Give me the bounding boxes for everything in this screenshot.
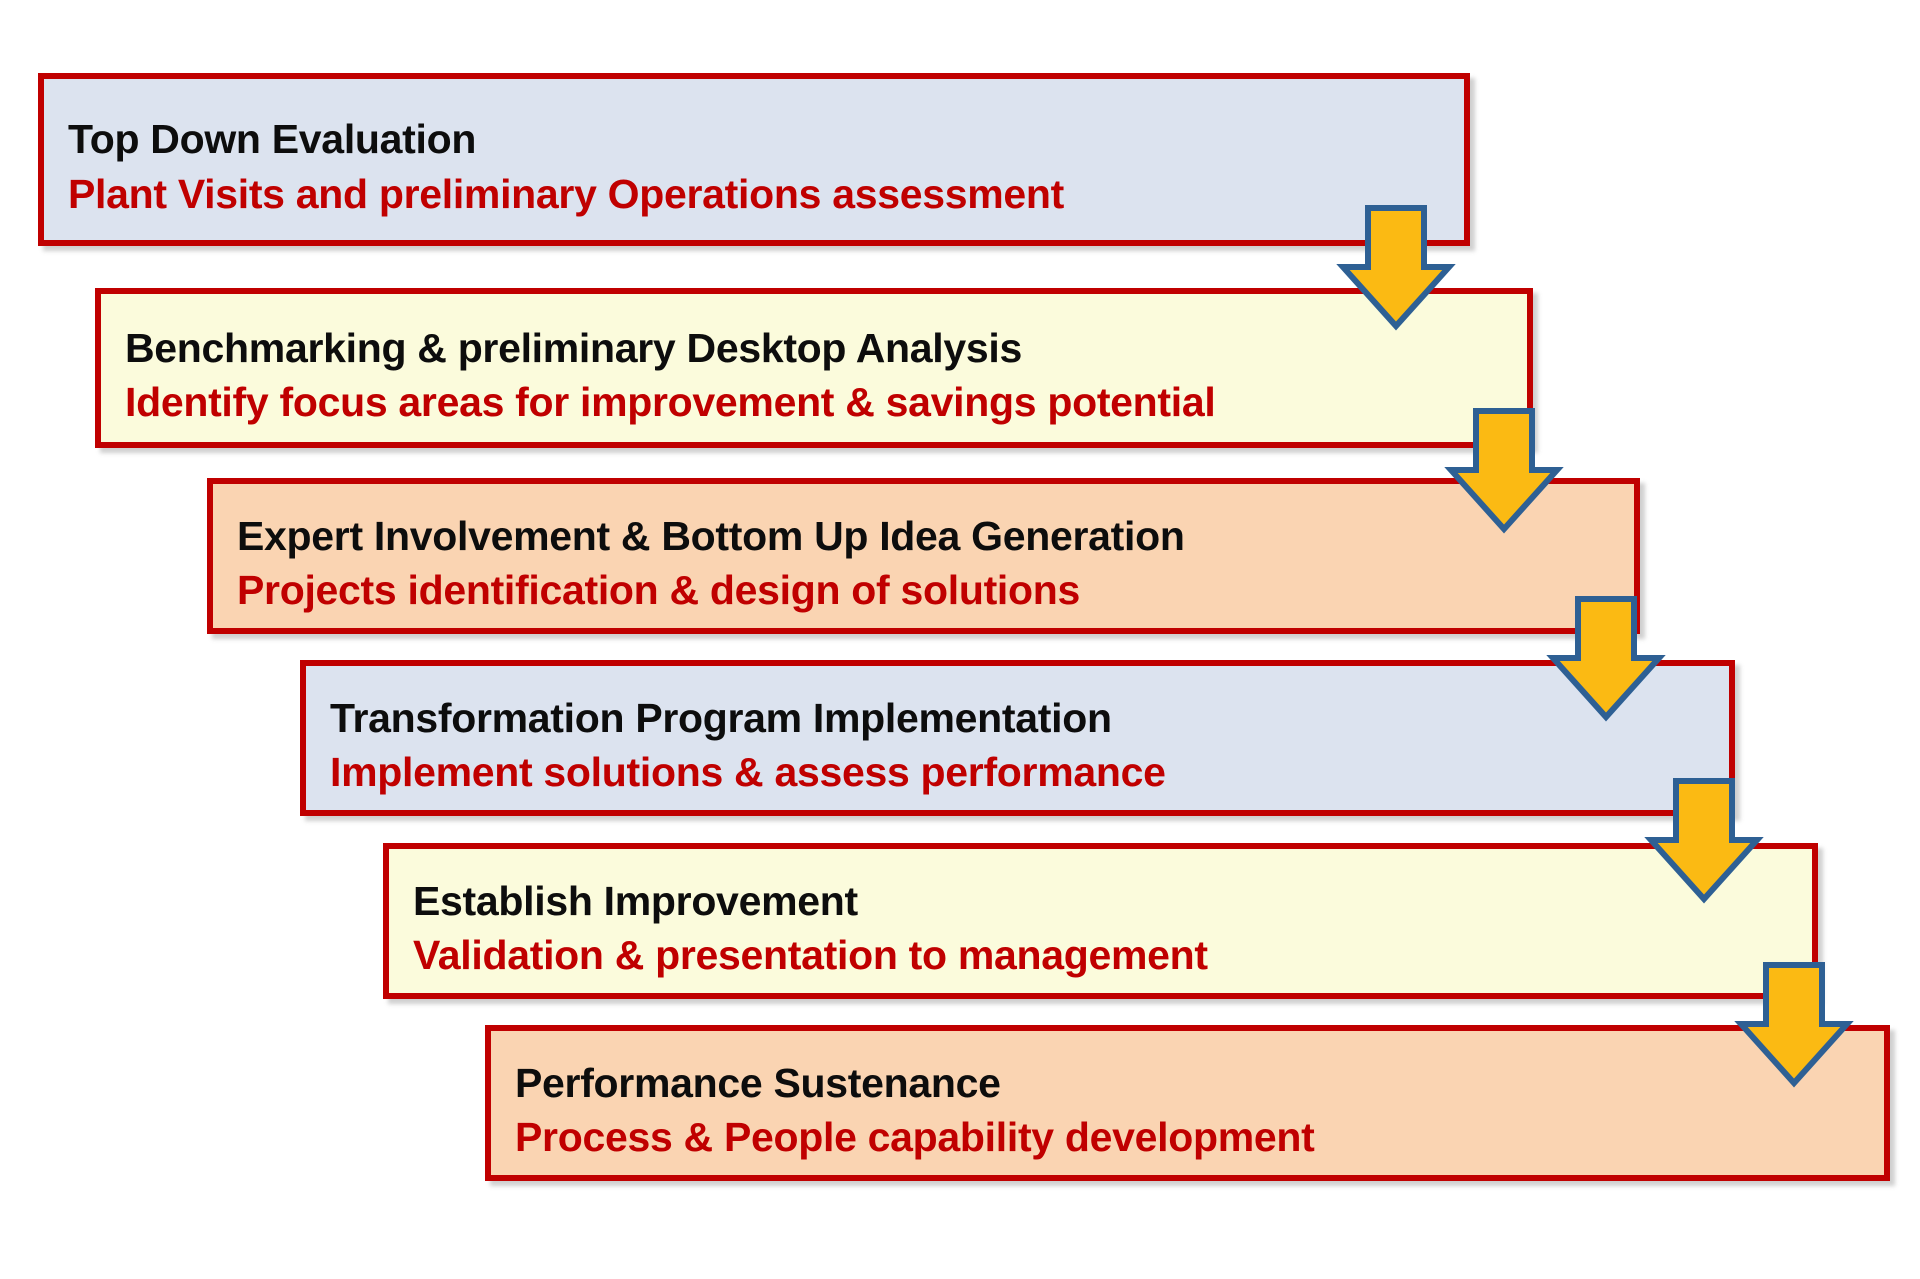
- down-arrow-icon-1: [1340, 205, 1452, 330]
- process-step-content-2: Benchmarking & preliminary Desktop Analy…: [101, 294, 1527, 442]
- down-arrow-icon-4: [1648, 778, 1760, 903]
- process-step-content-4: Transformation Program Implementation Im…: [306, 666, 1729, 810]
- process-step-subtitle-5: Validation & presentation to management: [413, 931, 1812, 979]
- process-step-box-1[interactable]: Top Down Evaluation Plant Visits and pre…: [38, 73, 1470, 246]
- process-step-content-5: Establish Improvement Validation & prese…: [389, 849, 1812, 993]
- process-step-subtitle-2: Identify focus areas for improvement & s…: [125, 378, 1527, 426]
- process-step-subtitle-1: Plant Visits and preliminary Operations …: [68, 170, 1464, 218]
- process-step-title-1: Top Down Evaluation: [68, 115, 1464, 163]
- process-step-content-3: Expert Involvement & Bottom Up Idea Gene…: [213, 484, 1634, 628]
- process-step-title-2: Benchmarking & preliminary Desktop Analy…: [125, 324, 1527, 372]
- process-step-content-6: Performance Sustenance Process & People …: [491, 1031, 1884, 1175]
- process-step-box-5[interactable]: Establish Improvement Validation & prese…: [383, 843, 1818, 999]
- process-flow-diagram: Top Down Evaluation Plant Visits and pre…: [0, 0, 1920, 1279]
- process-step-content-1: Top Down Evaluation Plant Visits and pre…: [44, 79, 1464, 240]
- process-step-title-5: Establish Improvement: [413, 877, 1812, 925]
- process-step-box-3[interactable]: Expert Involvement & Bottom Up Idea Gene…: [207, 478, 1640, 634]
- process-step-subtitle-6: Process & People capability development: [515, 1113, 1884, 1161]
- process-step-box-2[interactable]: Benchmarking & preliminary Desktop Analy…: [95, 288, 1533, 448]
- process-step-box-6[interactable]: Performance Sustenance Process & People …: [485, 1025, 1890, 1181]
- process-step-title-6: Performance Sustenance: [515, 1059, 1884, 1107]
- down-arrow-icon-3: [1550, 596, 1662, 721]
- process-step-title-3: Expert Involvement & Bottom Up Idea Gene…: [237, 512, 1634, 560]
- down-arrow-icon-2: [1448, 408, 1560, 533]
- down-arrow-icon-5: [1738, 962, 1850, 1087]
- process-step-subtitle-3: Projects identification & design of solu…: [237, 566, 1634, 614]
- process-step-title-4: Transformation Program Implementation: [330, 694, 1729, 742]
- process-step-subtitle-4: Implement solutions & assess performance: [330, 748, 1729, 796]
- process-step-box-4[interactable]: Transformation Program Implementation Im…: [300, 660, 1735, 816]
